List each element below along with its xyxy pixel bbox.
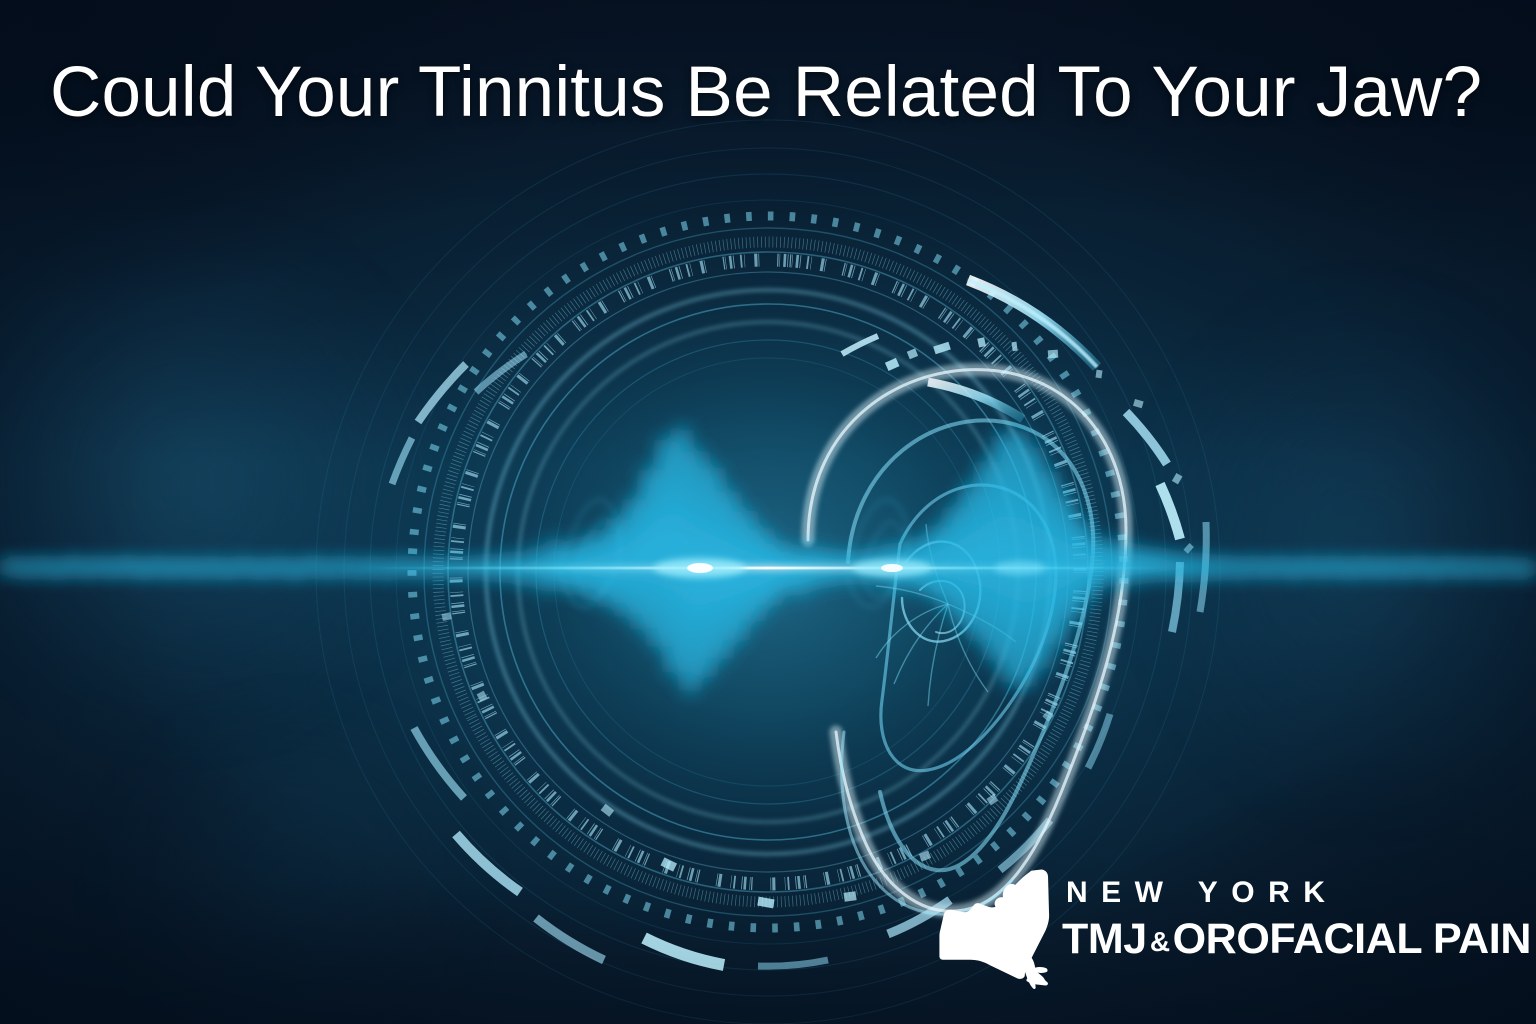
waveform-core-line: [0, 430, 1536, 690]
brand-logo-text: NEW YORK TMJ&OROFACIAL PAIN: [1062, 866, 1531, 963]
brand-orofacial-pain: OROFACIAL PAIN: [1173, 915, 1531, 963]
brand-line-new-york: NEW YORK: [1062, 878, 1531, 908]
waveform-center-beam: [360, 567, 1176, 570]
brand-line-practice: TMJ&OROFACIAL PAIN: [1062, 915, 1531, 963]
page-title: Could Your Tinnitus Be Related To Your J…: [50, 56, 1500, 131]
brand-logo[interactable]: NEW YORK TMJ&OROFACIAL PAIN: [932, 866, 1502, 990]
new-york-state-icon: [932, 866, 1050, 990]
ny-state-face-svg: [932, 866, 1050, 990]
brand-ampersand: &: [1147, 926, 1173, 957]
banner-image: Could Your Tinnitus Be Related To Your J…: [0, 0, 1536, 1024]
brand-tmj: TMJ: [1062, 915, 1147, 963]
